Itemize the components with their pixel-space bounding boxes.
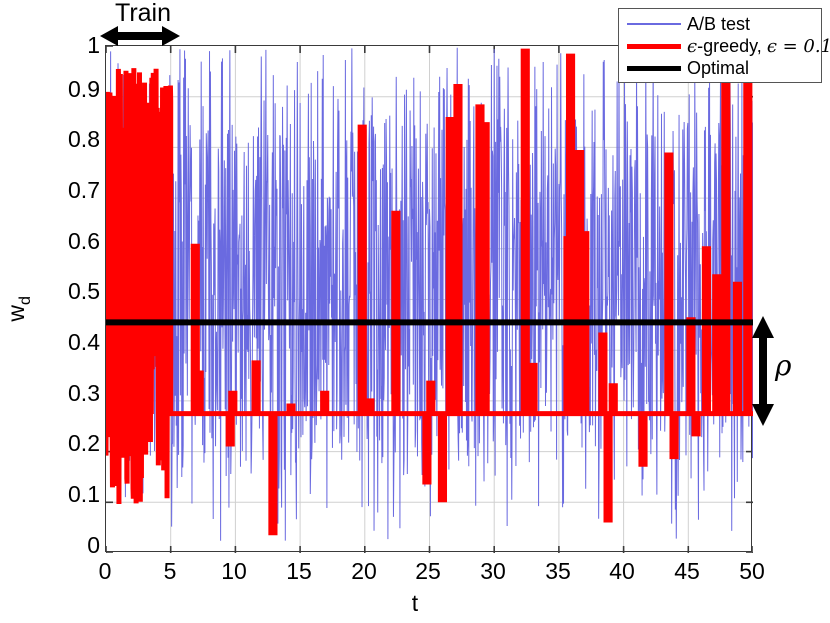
legend: A/B test ϵ-greedy, ϵ = 0.1 Optimal bbox=[618, 8, 822, 83]
legend-label-epsilon-greedy: ϵ-greedy, ϵ = 0.1 bbox=[683, 37, 830, 56]
y-tick-9: 0.9 bbox=[56, 78, 100, 101]
y-tick-10: 1 bbox=[56, 34, 100, 57]
train-annotation-label: Train bbox=[98, 0, 188, 26]
legend-epsilon-greedy-text: -greedy, bbox=[697, 36, 762, 56]
plot-svg bbox=[106, 46, 753, 553]
y-tick-7: 0.7 bbox=[56, 179, 100, 202]
x-tick-10: 50 bbox=[722, 560, 782, 583]
x-tick-1: 5 bbox=[140, 560, 200, 583]
x-axis-tick-labels: 0 5 10 15 20 25 30 35 40 45 50 bbox=[0, 560, 830, 590]
x-tick-0: 0 bbox=[75, 560, 135, 583]
y-axis-tick-labels: 0 0.1 0.2 0.3 0.4 0.5 0.6 0.7 0.8 0.9 1 bbox=[42, 0, 100, 623]
y-axis-title-base: w bbox=[3, 305, 29, 322]
y-tick-4: 0.4 bbox=[56, 331, 100, 354]
x-tick-9: 45 bbox=[657, 560, 717, 583]
legend-item-epsilon-greedy: ϵ-greedy, ϵ = 0.1 bbox=[625, 35, 815, 57]
chart-figure: 0 0.1 0.2 0.3 0.4 0.5 0.6 0.7 0.8 0.9 1 … bbox=[0, 0, 830, 623]
y-axis-title-subscript: d bbox=[17, 296, 34, 305]
ab-test-line-icon bbox=[625, 23, 683, 25]
y-tick-1: 0.1 bbox=[56, 483, 100, 506]
x-tick-6: 30 bbox=[463, 560, 523, 583]
train-double-arrow-icon bbox=[100, 24, 180, 48]
y-tick-2: 0.2 bbox=[56, 432, 100, 455]
y-tick-6: 0.6 bbox=[56, 230, 100, 253]
legend-label-ab-test: A/B test bbox=[683, 15, 750, 34]
x-axis-title: t bbox=[0, 591, 830, 615]
epsilon-greedy-line-icon bbox=[625, 44, 683, 49]
y-tick-8: 0.8 bbox=[56, 128, 100, 151]
legend-item-optimal: Optimal bbox=[625, 57, 815, 79]
optimal-line-icon bbox=[625, 66, 683, 71]
x-tick-3: 15 bbox=[269, 560, 329, 583]
y-tick-5: 0.5 bbox=[56, 280, 100, 303]
legend-label-optimal: Optimal bbox=[683, 59, 749, 78]
y-axis-title: wd bbox=[4, 274, 38, 344]
y-tick-3: 0.3 bbox=[56, 382, 100, 405]
y-tick-0: 0 bbox=[56, 534, 100, 557]
legend-epsilon-symbol: ϵ bbox=[687, 36, 697, 57]
legend-item-ab-test: A/B test bbox=[625, 13, 815, 35]
legend-epsilon-value: ϵ = 0.1 bbox=[767, 36, 830, 57]
x-tick-2: 10 bbox=[204, 560, 264, 583]
x-tick-4: 20 bbox=[334, 560, 394, 583]
x-tick-8: 40 bbox=[592, 560, 652, 583]
rho-annotation-label: ρ bbox=[775, 352, 791, 380]
plot-area bbox=[105, 45, 752, 552]
x-tick-5: 25 bbox=[398, 560, 458, 583]
x-tick-7: 35 bbox=[528, 560, 588, 583]
